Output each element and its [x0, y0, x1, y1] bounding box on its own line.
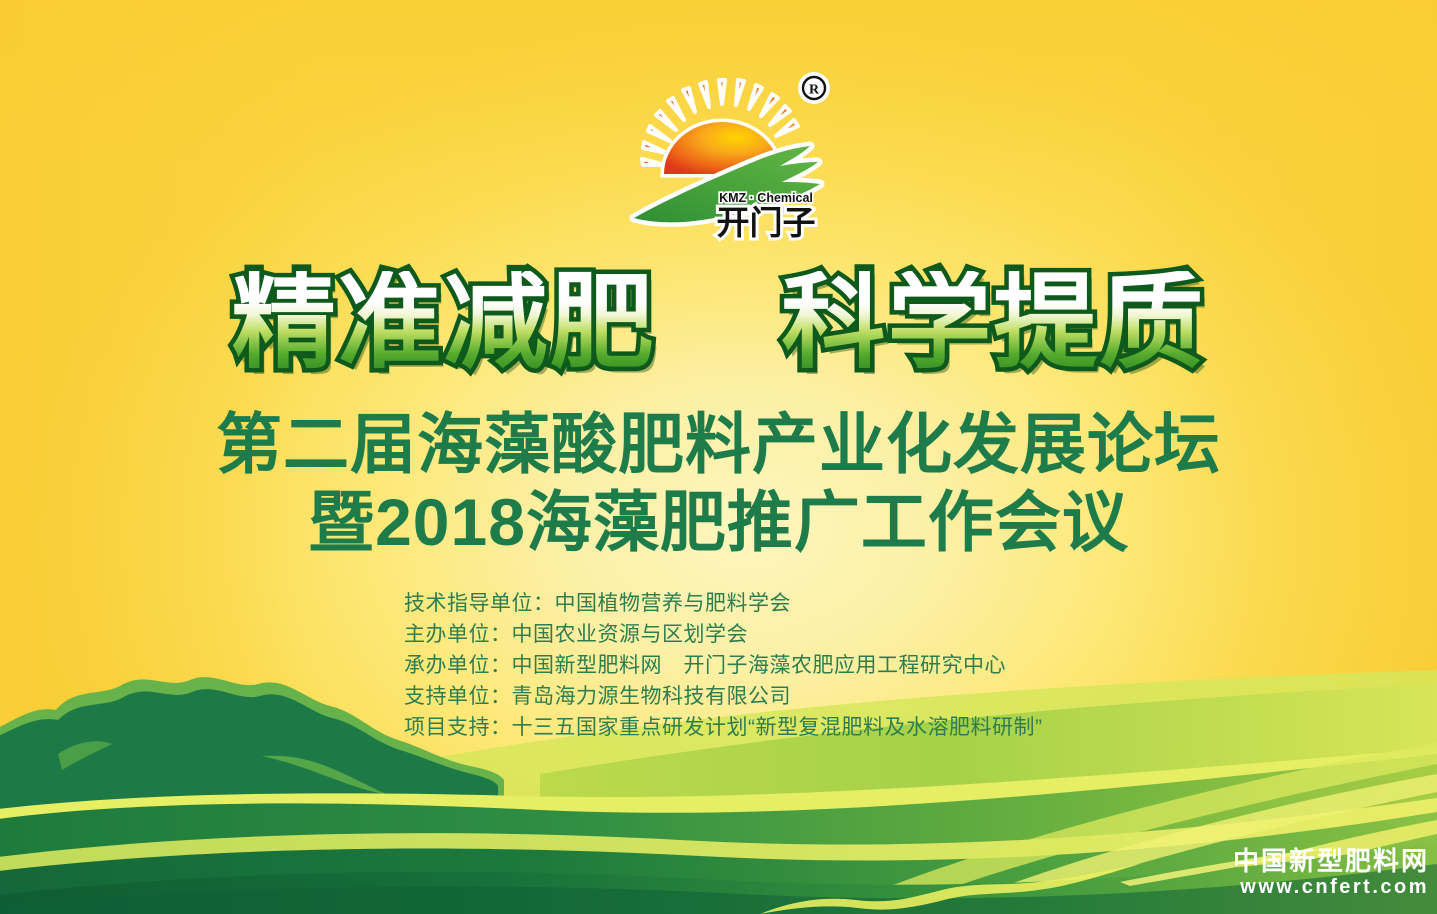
headline-part2: 科学提质: [781, 265, 1205, 381]
site-watermark: 中国新型肥料网 www.cnfert.com: [1233, 848, 1429, 898]
conference-poster: R KMZ · Chemical KMZ · Chemical 开门子 开门子 …: [0, 0, 1437, 914]
organizer-line-project-support: 项目支持：十三五国家重点研发计划“新型复混肥料及水溶肥料研制”: [404, 712, 1104, 743]
poster-headline: 精准减肥 科学提质 精准减肥 科学提质: [0, 271, 1437, 375]
subtitle-line-2: 暨2018海藻肥推广工作会议: [0, 489, 1437, 555]
headline-fill-layer: 精准减肥 科学提质: [232, 271, 1206, 375]
company-logo: R KMZ · Chemical KMZ · Chemical 开门子 开门子: [622, 62, 840, 252]
watermark-site-url: www.cnfert.com: [1233, 877, 1429, 898]
svg-text:R: R: [809, 83, 820, 98]
organizer-line-technical-guidance: 技术指导单位：中国植物营养与肥料学会: [404, 588, 1104, 619]
brand-en-text: KMZ · Chemical: [719, 191, 813, 205]
watermark-site-name: 中国新型肥料网: [1233, 848, 1429, 875]
organizer-line-undertaker: 承办单位：中国新型肥料网 开门子海藻农肥应用工程研究中心: [404, 650, 1104, 681]
organizer-line-support: 支持单位：青岛海力源生物科技有限公司: [404, 681, 1104, 712]
registered-trademark-icon: R: [798, 72, 830, 104]
headline-part1: 精准减肥: [232, 265, 656, 381]
subtitle-line-1: 第二届海藻酸肥料产业化发展论坛: [0, 411, 1437, 477]
organizer-credits: 技术指导单位：中国植物营养与肥料学会 主办单位：中国农业资源与区划学会 承办单位…: [404, 588, 1104, 743]
brand-cn-text: 开门子: [717, 204, 816, 241]
organizer-line-host: 主办单位：中国农业资源与区划学会: [404, 619, 1104, 650]
